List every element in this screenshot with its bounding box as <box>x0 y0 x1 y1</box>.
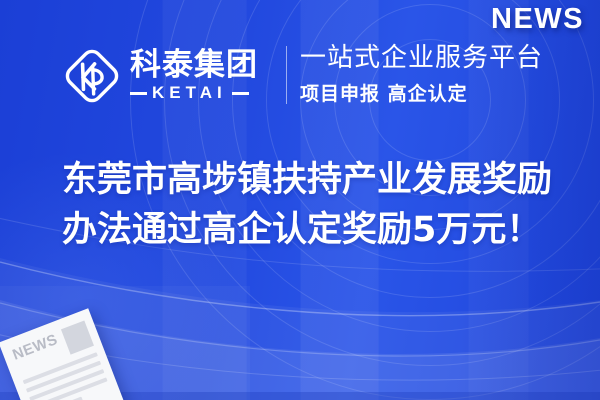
header-divider <box>286 46 287 104</box>
dash-right-icon <box>232 92 249 95</box>
ketai-diamond-logo-icon <box>60 44 124 108</box>
news-banner: NEWS 科泰集团 KETAI <box>0 0 600 400</box>
brand-name-en: KETAI <box>152 83 227 103</box>
newspaper-title: NEWS <box>10 331 60 364</box>
slogan-main: 一站式企业服务平台 <box>300 42 543 75</box>
slogan-sub: 项目申报 高企认定 <box>300 79 543 106</box>
news-badge: NEWS <box>491 3 584 36</box>
brand-name-en-row: KETAI <box>130 83 258 103</box>
brand-logo[interactable]: 科泰集团 KETAI <box>60 44 258 108</box>
slogan-block: 一站式企业服务平台 项目申报 高企认定 <box>300 42 543 106</box>
brand-logo-text: 科泰集团 KETAI <box>130 49 258 104</box>
newspaper-thumbnail <box>61 320 94 354</box>
dash-left-icon <box>130 92 147 95</box>
brand-name-cn: 科泰集团 <box>130 49 258 82</box>
headline-text: 东莞市高埗镇扶持产业发展奖励办法通过高企认定奖励5万元！ <box>62 155 562 255</box>
banner-header: 科泰集团 KETAI 一站式企业服务平台 项目申报 高企认定 <box>0 40 600 116</box>
